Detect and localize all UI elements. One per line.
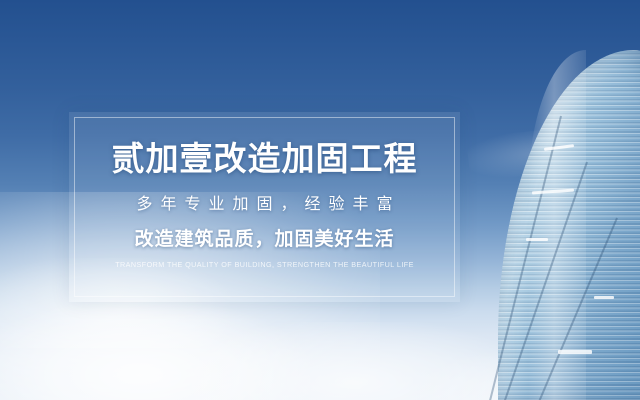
skyscraper-body — [498, 50, 640, 400]
slogan: 改造建筑品质，加固美好生活 — [134, 230, 394, 249]
text-panel: 贰加壹改造加固工程 多年专业加固，经验丰富 改造建筑品质，加固美好生活 TRAN… — [69, 112, 460, 302]
skyscraper-glass-sheen — [528, 50, 586, 400]
skyscraper-highlight — [526, 238, 548, 241]
skyscraper-image — [480, 0, 640, 400]
skyscraper-highlight — [594, 296, 614, 299]
panel-content: 贰加壹改造加固工程 多年专业加固，经验丰富 改造建筑品质，加固美好生活 TRAN… — [69, 112, 460, 302]
headline: 贰加壹改造加固工程 — [112, 142, 418, 175]
hero-banner: 贰加壹改造加固工程 多年专业加固，经验丰富 改造建筑品质，加固美好生活 TRAN… — [0, 0, 640, 400]
subheadline: 多年专业加固，经验丰富 — [128, 197, 400, 213]
skyscraper-highlight — [558, 350, 592, 354]
slogan-english: TRANSFORM THE QUALITY OF BUILDING, STREN… — [115, 261, 414, 269]
